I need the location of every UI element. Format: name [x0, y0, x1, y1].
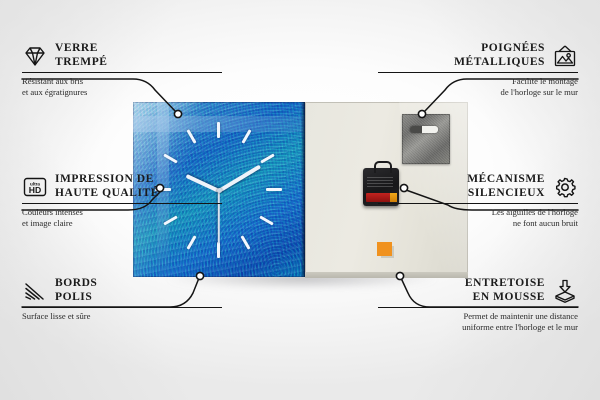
callout-desc-line2: ne font aucun bruit — [378, 218, 578, 229]
callout-desc-line1: Les aiguilles de l'horloge — [378, 207, 578, 218]
callout-rule — [378, 307, 578, 308]
polished-edge-icon — [22, 279, 48, 303]
callout-header: MÉCANISME SILENCIEUX — [378, 173, 578, 200]
callout-rule — [378, 203, 578, 204]
callout-header: VERRE TREMPÉ — [22, 42, 222, 69]
callout-rule — [22, 72, 222, 73]
callout-title: BORDS POLIS — [55, 277, 97, 304]
callout-desc-line2: uniforme entre l'horloge et le mur — [378, 322, 578, 333]
callout-bords-polis: BORDS POLIS Surface lisse et sûre — [22, 277, 222, 322]
callout-title: POIGNÉES MÉTALLIQUES — [454, 42, 545, 69]
callout-header: ENTRETOISE EN MOUSSE — [378, 277, 578, 304]
callout-rule — [378, 72, 578, 73]
callout-entretoise-en-mousse: ENTRETOISE EN MOUSSE Permet de maintenir… — [378, 277, 578, 333]
callout-title: VERRE TREMPÉ — [55, 42, 108, 69]
hd-label: HD — [29, 185, 41, 195]
gear-icon — [552, 175, 578, 199]
callout-rule — [22, 203, 222, 204]
callout-impression-haute-qualite: ultra HD IMPRESSION DE HAUTE QUALITÉ Cou… — [22, 173, 222, 229]
ultra-hd-icon: ultra HD — [22, 175, 48, 199]
callout-header: ultra HD IMPRESSION DE HAUTE QUALITÉ — [22, 173, 222, 200]
callout-header: BORDS POLIS — [22, 277, 222, 304]
connector-node — [418, 110, 425, 117]
callout-desc-line1: Facilite le montage — [378, 76, 578, 87]
hanging-frame-icon — [552, 44, 578, 68]
callout-verre-trempe: VERRE TREMPÉ Résistant aux bris et aux é… — [22, 42, 222, 98]
callout-desc-line2: de l'horloge sur le mur — [378, 87, 578, 98]
callout-desc-line2: et aux égratignures — [22, 87, 222, 98]
callout-title: MÉCANISME SILENCIEUX — [467, 173, 545, 200]
callout-desc-line1: Surface lisse et sûre — [22, 311, 222, 322]
callout-poignees-metalliques: POIGNÉES MÉTALLIQUES Facilite le montage… — [378, 42, 578, 98]
callout-desc-line1: Couleurs intenses — [22, 207, 222, 218]
diamond-icon — [22, 44, 48, 68]
connector-node — [174, 110, 181, 117]
callout-rule — [22, 307, 222, 308]
callout-mecanisme-silencieux: MÉCANISME SILENCIEUX Les aiguilles de l'… — [378, 173, 578, 229]
callout-header: POIGNÉES MÉTALLIQUES — [378, 42, 578, 69]
callout-desc-line1: Permet de maintenir une distance — [378, 311, 578, 322]
foam-spacer-icon — [552, 279, 578, 303]
callout-title: ENTRETOISE EN MOUSSE — [465, 277, 545, 304]
infographic-canvas: VERRE TREMPÉ Résistant aux bris et aux é… — [0, 0, 600, 400]
callout-desc-line2: et image claire — [22, 218, 222, 229]
callout-desc-line1: Résistant aux bris — [22, 76, 222, 87]
callout-title: IMPRESSION DE HAUTE QUALITÉ — [55, 173, 159, 200]
